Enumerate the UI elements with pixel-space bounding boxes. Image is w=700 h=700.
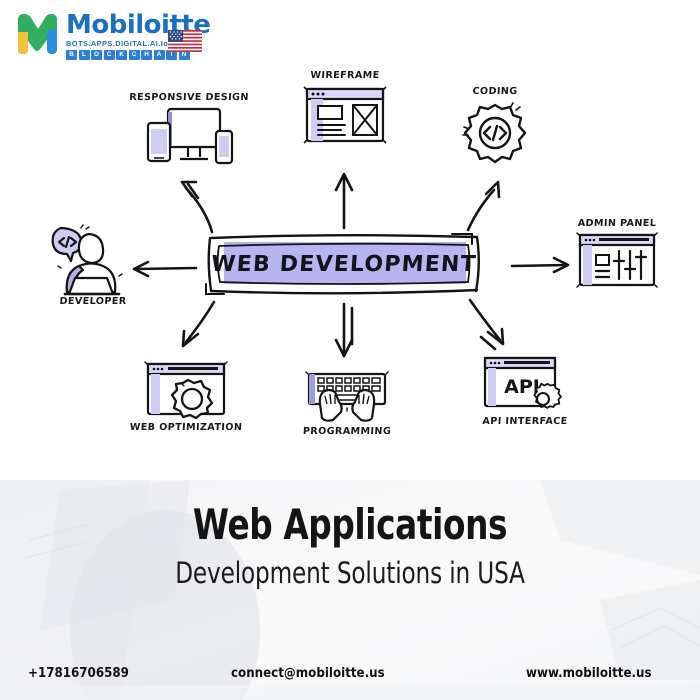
node-label: WEB OPTIMIZATION xyxy=(122,422,251,433)
api-interface-icon: API xyxy=(480,354,570,416)
programming-keyboard-icon xyxy=(301,368,393,426)
chain-letter: K xyxy=(116,50,127,60)
chain-letter: B xyxy=(66,50,77,60)
node-admin-panel[interactable]: ADMIN PANEL xyxy=(562,218,672,289)
chain-letter: O xyxy=(91,50,102,60)
chain-letter: H xyxy=(141,50,152,60)
node-label: ADMIN PANEL xyxy=(562,218,673,229)
node-label: API INTERFACE xyxy=(470,416,581,427)
mobiloitte-m-icon xyxy=(14,10,62,56)
node-developer[interactable]: DEVELOPER xyxy=(38,222,148,307)
web-optimization-icon xyxy=(140,360,232,422)
center-node-web-development: WEB DEVELOPMENT xyxy=(200,228,488,300)
node-label: RESPONSIVE DESIGN xyxy=(126,92,253,103)
chain-letter: L xyxy=(79,50,90,60)
node-label: WIREFRAME xyxy=(295,70,396,81)
poster-canvas: Mobiloitte BOTS.APPS.DIGITAL.AI.IoT B L … xyxy=(0,0,700,700)
footer-website[interactable]: www.mobiloitte.us xyxy=(526,665,652,681)
node-wireframe[interactable]: WIREFRAME xyxy=(295,70,395,147)
chain-letter: A xyxy=(154,50,165,60)
promo-text: Web Applications Development Solutions i… xyxy=(0,502,700,590)
promo-area: Web Applications Development Solutions i… xyxy=(0,480,700,700)
contact-footer: +17816706589 connect@mobiloitte.us www.m… xyxy=(0,646,700,700)
node-api-interface[interactable]: API API INTERFACE xyxy=(470,352,580,427)
wireframe-icon xyxy=(301,83,389,147)
responsive-design-icon xyxy=(140,105,238,171)
developer-icon xyxy=(45,224,141,296)
node-label: CODING xyxy=(445,86,546,97)
node-label: PROGRAMMING xyxy=(292,426,403,437)
chain-letter: C xyxy=(129,50,140,60)
center-box-sketch xyxy=(200,228,488,300)
coding-gear-icon xyxy=(456,99,534,171)
node-coding[interactable]: CODING xyxy=(445,86,545,171)
us-flag-icon xyxy=(168,30,202,52)
node-responsive-design[interactable]: RESPONSIVE DESIGN xyxy=(126,92,252,171)
admin-panel-icon xyxy=(575,231,659,289)
footer-email[interactable]: connect@mobiloitte.us xyxy=(231,665,385,681)
node-programming[interactable]: PROGRAMMING xyxy=(292,366,402,437)
footer-phone[interactable]: +17816706589 xyxy=(28,665,129,681)
chain-letter: C xyxy=(104,50,115,60)
node-web-optimization[interactable]: WEB OPTIMIZATION xyxy=(122,358,250,433)
subheadline: Development Solutions in USA xyxy=(70,556,630,590)
diagram-area: Mobiloitte BOTS.APPS.DIGITAL.AI.IoT B L … xyxy=(0,0,700,480)
node-label: DEVELOPER xyxy=(38,296,149,307)
headline: Web Applications xyxy=(77,502,623,548)
